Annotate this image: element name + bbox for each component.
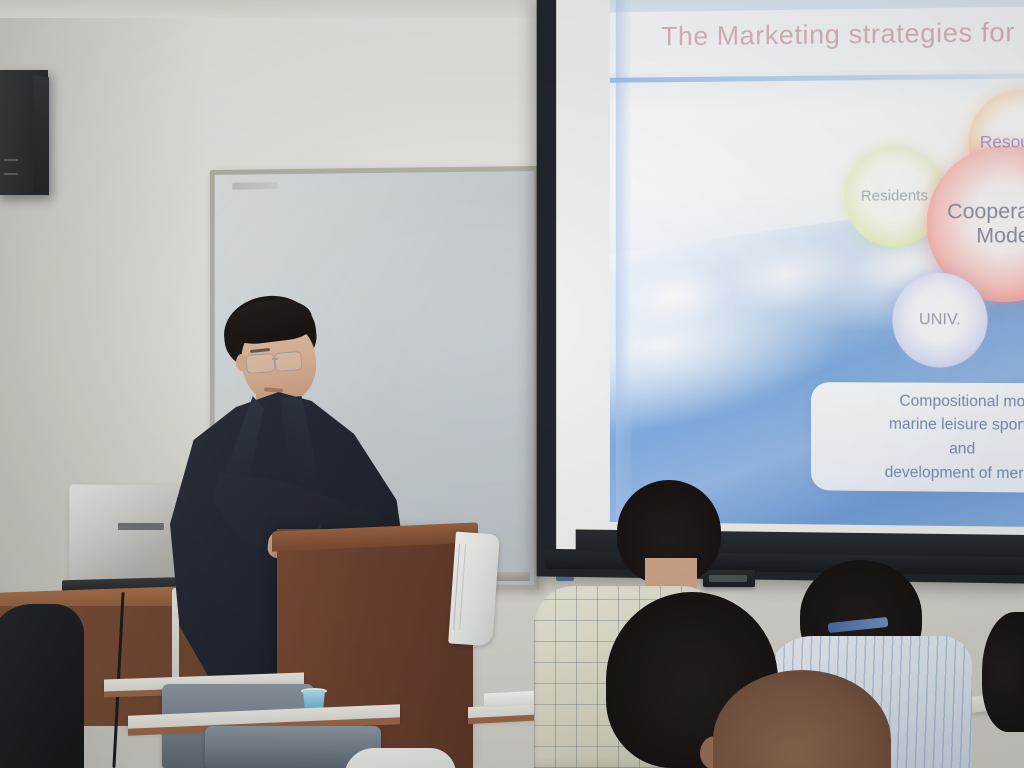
glasses-lens-right: [274, 351, 302, 372]
audience-member-g-shirt: [344, 748, 456, 768]
bubble-univ-label: UNIV.: [919, 311, 961, 329]
caption-line-2: marine leisure sport t: [889, 413, 1024, 438]
wall-speaker-icon: [0, 70, 48, 195]
slide-title: The Marketing strategies for m: [661, 16, 1024, 52]
screen-surface: The Marketing strategies for m Residents…: [556, 0, 1024, 555]
presentation-photo-scene: The Marketing strategies for m Residents…: [0, 0, 1024, 768]
bubble-cooperation-model-label: Cooperation Model: [947, 200, 1024, 248]
bubble-residents-label: Residents: [861, 188, 928, 205]
caption-line-1: Compositional mo: [899, 390, 1024, 414]
laptop-brand-logo: [118, 523, 164, 530]
projector-remote-holder: [703, 570, 755, 587]
caption-line-4: development of merch: [885, 460, 1024, 485]
glasses-lens-left: [245, 353, 275, 374]
screen-horizontal-glare: [610, 73, 1024, 82]
projected-slide: The Marketing strategies for m Residents…: [610, 0, 1024, 527]
speaker-port: [4, 159, 18, 175]
audience-member-f-shoulder: [0, 604, 84, 768]
caption-line-3: and: [949, 437, 975, 461]
whiteboard-label: [232, 182, 277, 189]
wall-ceiling-band: [0, 0, 540, 18]
projection-screen: The Marketing strategies for m Residents…: [537, 0, 1024, 584]
slide-caption-box: Compositional mo marine leisure sport t …: [811, 382, 1024, 493]
bubble-univ: UNIV.: [892, 273, 987, 368]
speaker-side-face: [33, 75, 49, 196]
bubble-resources-label: Resources: [980, 132, 1024, 152]
podium-papers: [448, 532, 500, 647]
glasses-bridge: [272, 358, 278, 360]
